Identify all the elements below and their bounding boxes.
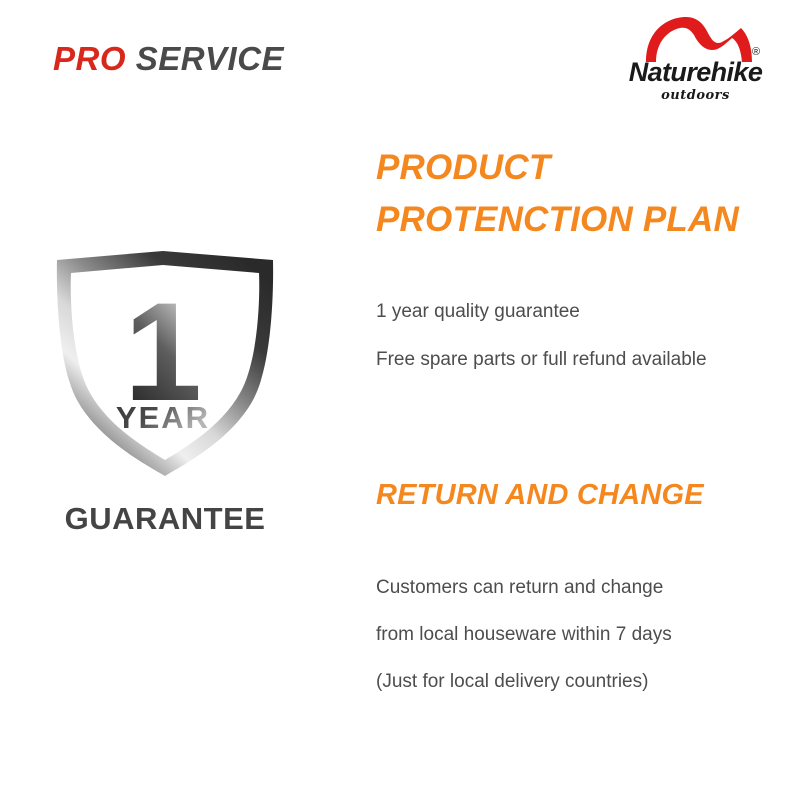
page-title-primary: PRO (53, 40, 126, 77)
brand-logo: Naturehike ® outdoors (628, 16, 778, 104)
page-title-secondary: SERVICE (136, 40, 284, 77)
registered-mark-icon: ® (752, 46, 760, 58)
return-line-1: Customers can return and change (376, 577, 663, 599)
badge-period: YEAR (116, 400, 210, 435)
return-line-3: (Just for local delivery countries) (376, 671, 648, 693)
shield-badge: 1 YEAR (45, 248, 285, 483)
plan-title-line2: PROTENCTION PLAN (376, 200, 739, 240)
pro-service-banner: PRO SERVICE Naturehike ® outdoors (0, 0, 800, 800)
plan-bullet-1: 1 year quality guarantee (376, 301, 580, 323)
shield-icon: 1 YEAR (45, 248, 285, 483)
guarantee-caption: GUARANTEE (25, 501, 305, 537)
brand-name: Naturehike (628, 57, 763, 88)
return-line-2: from local houseware within 7 days (376, 624, 672, 646)
plan-bullet-2: Free spare parts or full refund availabl… (376, 349, 707, 371)
mountain-arc-icon (644, 16, 754, 62)
brand-tagline: outdoors (628, 88, 763, 103)
plan-title-line1: PRODUCT (376, 148, 550, 188)
page-title: PRO SERVICE (53, 40, 284, 78)
return-title: RETURN AND CHANGE (376, 479, 704, 512)
